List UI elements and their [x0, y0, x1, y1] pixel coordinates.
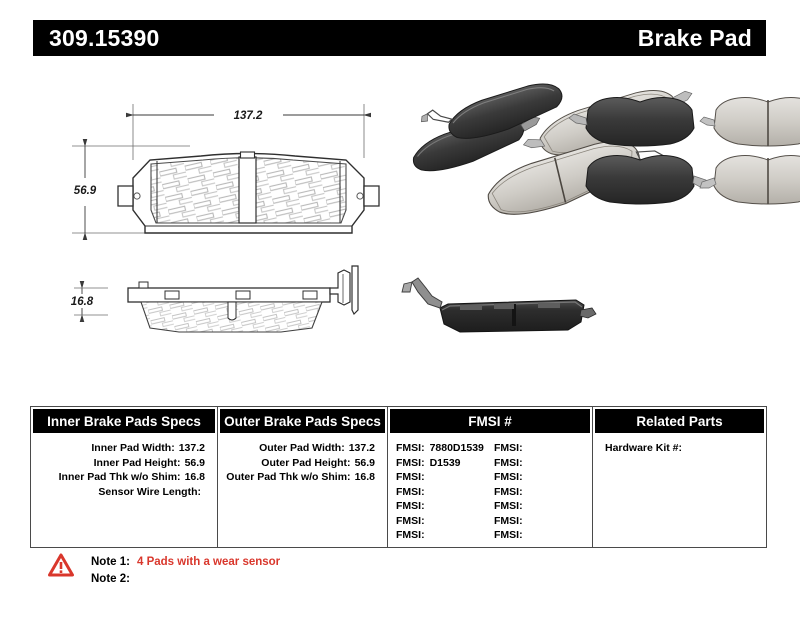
spec-row: Inner Pad Thk w/o Shim:16.8: [31, 470, 217, 485]
drawing-area: 137.2 56.9: [0, 60, 800, 390]
spec-column-outer-header: Outer Brake Pads Specs: [220, 409, 385, 433]
spec-column-outer-body: Outer Pad Width:137.2 Outer Pad Height:5…: [218, 435, 387, 485]
spec-value: 56.9: [351, 457, 375, 469]
fmsi-value: [523, 486, 528, 498]
fmsi-row: FMSI:: [396, 528, 494, 543]
dim-height-text: 56.9: [74, 185, 97, 197]
fmsi-row: FMSI:: [494, 528, 592, 543]
spec-value: 56.9: [181, 457, 205, 469]
spec-value: 137.2: [175, 442, 205, 454]
notes-area: Note 1:4 Pads with a wear sensor Note 2:: [48, 551, 548, 601]
note-1-text: 4 Pads with a wear sensor: [130, 556, 280, 568]
warning-triangle-icon: [48, 553, 74, 577]
spec-column-outer: Outer Brake Pads Specs Outer Pad Width:1…: [217, 407, 387, 547]
fmsi-row: FMSI:: [494, 456, 592, 471]
fmsi-grid: FMSI:7880D1539 FMSI:D1539 FMSI: FMSI: FM…: [388, 435, 592, 543]
fmsi-value: [425, 486, 430, 498]
spec-column-related-parts: Related Parts Hardware Kit #:: [592, 407, 766, 547]
product-type: Brake Pad: [638, 27, 752, 50]
spec-row: Inner Pad Width:137.2: [31, 441, 217, 456]
spec-label: Inner Pad Width:: [91, 442, 174, 454]
spec-column-fmsi-header: FMSI #: [390, 409, 590, 433]
spec-label: Outer Pad Width:: [259, 442, 345, 454]
note-2-label: Note 2:: [91, 573, 130, 585]
fmsi-row: FMSI:: [494, 485, 592, 500]
related-parts-label: Hardware Kit #:: [605, 442, 682, 454]
fmsi-row: FMSI:: [396, 485, 494, 500]
spec-value: [201, 486, 205, 498]
spec-value: 16.8: [181, 471, 205, 483]
spec-table: Inner Brake Pads Specs Inner Pad Width:1…: [30, 406, 767, 548]
fmsi-label: FMSI:: [494, 471, 523, 483]
fmsi-subcolumn-left: FMSI:7880D1539 FMSI:D1539 FMSI: FMSI: FM…: [396, 441, 494, 543]
fmsi-value: [425, 471, 430, 483]
spec-label: Inner Pad Thk w/o Shim:: [59, 471, 181, 483]
spec-column-inner-body: Inner Pad Width:137.2 Inner Pad Height:5…: [31, 435, 217, 499]
brake-pad-photo-edge-view: [402, 278, 596, 332]
header-bar: 309.15390 Brake Pad: [33, 20, 766, 56]
fmsi-value: 7880D1539: [425, 442, 484, 454]
fmsi-label: FMSI:: [396, 486, 425, 498]
spec-row: Inner Pad Height:56.9: [31, 456, 217, 471]
fmsi-row: FMSI:: [494, 441, 592, 456]
fmsi-subcolumn-right: FMSI: FMSI: FMSI: FMSI: FMSI: FMSI: FMSI…: [494, 441, 592, 543]
technical-drawing-svg: 137.2 56.9: [0, 60, 800, 390]
fmsi-value: [425, 529, 430, 541]
spec-column-inner: Inner Brake Pads Specs Inner Pad Width:1…: [31, 407, 217, 547]
fmsi-value: [523, 515, 528, 527]
fmsi-value: D1539: [425, 457, 461, 469]
fmsi-label: FMSI:: [396, 471, 425, 483]
spec-column-inner-header: Inner Brake Pads Specs: [33, 409, 215, 433]
fmsi-label: FMSI:: [494, 486, 523, 498]
fmsi-label: FMSI:: [396, 515, 425, 527]
fmsi-value: [425, 515, 430, 527]
fmsi-value: [523, 442, 528, 454]
fmsi-value: [523, 471, 528, 483]
dim-thickness-text: 16.8: [71, 296, 94, 308]
note-2-text: [130, 573, 137, 585]
part-number: 309.15390: [49, 27, 160, 50]
fmsi-row: FMSI:: [396, 470, 494, 485]
note-row-1: Note 1:4 Pads with a wear sensor: [91, 555, 280, 570]
note-1-label: Note 1:: [91, 556, 130, 568]
spec-label: Outer Pad Thk w/o Shim:: [226, 471, 350, 483]
spec-value: 137.2: [345, 442, 375, 454]
fmsi-value: [425, 500, 430, 512]
spec-row: Outer Pad Width:137.2: [218, 441, 387, 456]
spec-row: Sensor Wire Length:: [31, 485, 217, 500]
fmsi-value: [523, 529, 528, 541]
spec-column-related-parts-header: Related Parts: [595, 409, 764, 433]
fmsi-row: FMSI:D1539: [396, 456, 494, 471]
spec-row: Outer Pad Thk w/o Shim:16.8: [218, 470, 387, 485]
fmsi-row: FMSI:: [494, 499, 592, 514]
fmsi-label: FMSI:: [396, 529, 425, 541]
fmsi-label: FMSI:: [494, 442, 523, 454]
fmsi-row: FMSI:: [494, 514, 592, 529]
fmsi-row: FMSI:7880D1539: [396, 441, 494, 456]
fmsi-label: FMSI:: [396, 500, 425, 512]
fmsi-label: FMSI:: [494, 457, 523, 469]
spec-label: Sensor Wire Length:: [98, 486, 201, 498]
fmsi-row: FMSI:: [396, 514, 494, 529]
fmsi-value: [523, 500, 528, 512]
spec-row: Outer Pad Height:56.9: [218, 456, 387, 471]
note-row-2: Note 2:: [91, 572, 137, 587]
fmsi-label: FMSI:: [494, 500, 523, 512]
brake-pad-side-view: 16.8: [71, 266, 358, 332]
fmsi-label: FMSI:: [396, 457, 425, 469]
dim-width-text: 137.2: [234, 110, 263, 122]
fmsi-row: FMSI:: [494, 470, 592, 485]
fmsi-label: FMSI:: [494, 515, 523, 527]
spec-label: Inner Pad Height:: [94, 457, 181, 469]
spec-column-fmsi: FMSI # FMSI:7880D1539 FMSI:D1539 FMSI: F…: [387, 407, 592, 547]
related-parts-row: Hardware Kit #:: [593, 435, 766, 456]
brake-pad-front-view: 137.2 56.9: [72, 104, 379, 233]
spec-value: 16.8: [351, 471, 375, 483]
fmsi-row: FMSI:: [396, 499, 494, 514]
fmsi-label: FMSI:: [396, 442, 425, 454]
fmsi-value: [523, 457, 528, 469]
spec-label: Outer Pad Height:: [261, 457, 350, 469]
fmsi-label: FMSI:: [494, 529, 523, 541]
